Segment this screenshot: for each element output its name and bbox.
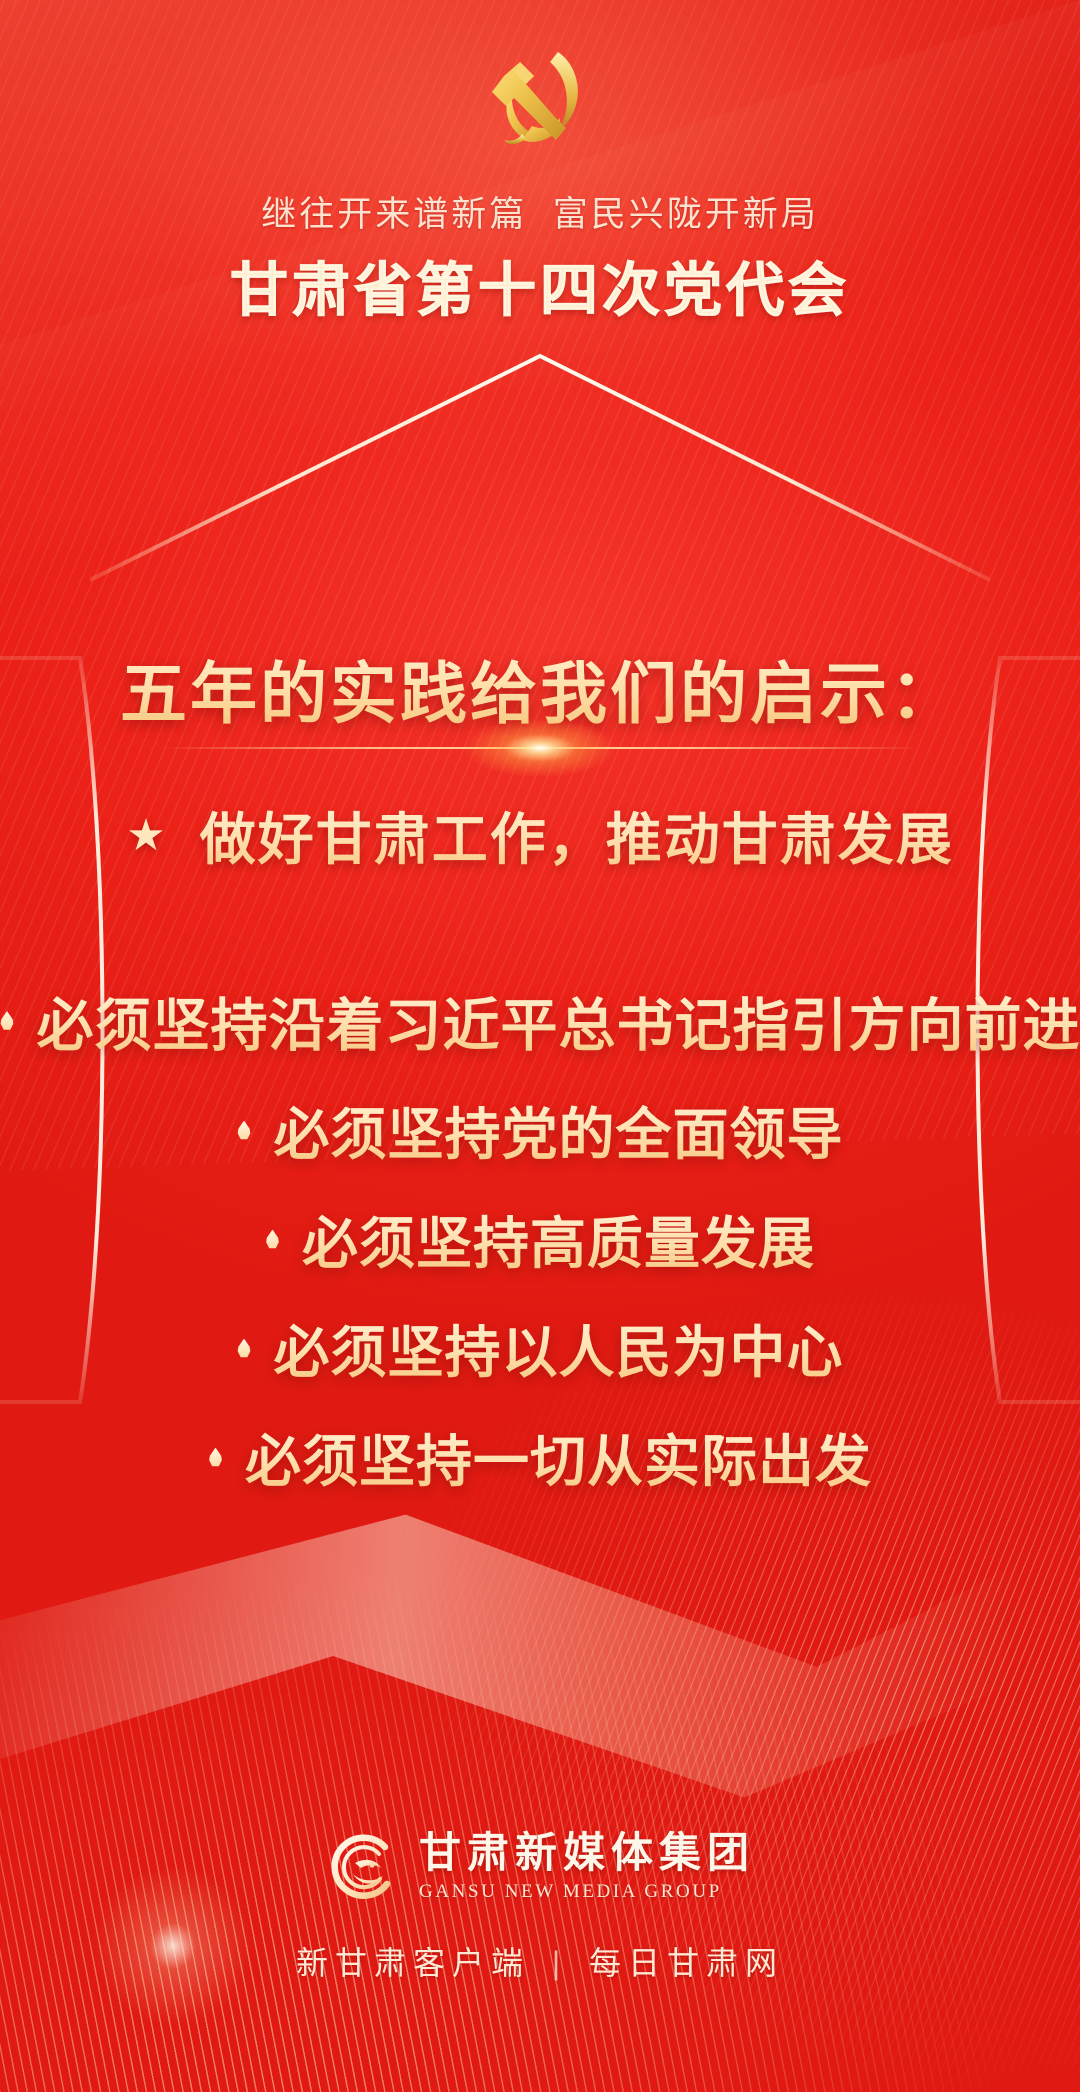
footer-link-app[interactable]: 新甘肃客户端	[296, 1945, 530, 1981]
footer-link-separator: |	[552, 1945, 567, 1981]
glow-divider	[160, 735, 920, 761]
list-item-label: 必须坚持高质量发展	[302, 1199, 815, 1280]
list-item-label: 必须坚持以人民为中心	[274, 1308, 844, 1389]
list-item: 必须坚持一切从实际出发	[208, 1417, 872, 1498]
list-item-label: 必须坚持沿着习近平总书记指引方向前进	[37, 980, 1080, 1062]
divider-glow-core	[465, 719, 615, 777]
droplet-bullet-icon	[237, 1121, 252, 1141]
list-item: 必须坚持以人民为中心	[237, 1308, 844, 1389]
list-item: 必须坚持高质量发展	[265, 1199, 815, 1280]
gansu-new-media-group-swirl-logo-icon	[325, 1830, 399, 1904]
droplet-bullet-icon	[237, 1339, 252, 1359]
five-pointed-star-icon: ★	[126, 814, 165, 858]
droplet-bullet-icon	[208, 1448, 223, 1468]
droplet-bullet-icon	[0, 1011, 15, 1031]
star-statement-row: ★ 做好甘肃工作，推动甘肃发展	[0, 795, 1080, 876]
list-item-label: 必须坚持一切从实际出发	[245, 1417, 872, 1498]
list-item-label: 必须坚持党的全面领导	[274, 1090, 844, 1171]
droplet-bullet-icon	[265, 1230, 280, 1250]
brand-row: 甘肃新媒体集团 GANSU NEW MEDIA GROUP	[0, 1830, 1080, 1904]
poster-footer: 甘肃新媒体集团 GANSU NEW MEDIA GROUP 新甘肃客户端 | 每…	[0, 1830, 1080, 1984]
list-item: 必须坚持党的全面领导	[237, 1090, 844, 1171]
footer-link-site[interactable]: 每日甘肃网	[589, 1945, 784, 1981]
poster-header: 继往开来谱新篇 富民兴陇开新局 甘肃省第十四次党代会	[0, 0, 1080, 327]
brand-name-en: GANSU NEW MEDIA GROUP	[419, 1881, 755, 1903]
sub-slogan: 继往开来谱新篇 富民兴陇开新局	[0, 186, 1080, 237]
bullet-list: 必须坚持沿着习近平总书记指引方向前进 必须坚持党的全面领导 必须坚持高质量发展 …	[0, 980, 1080, 1526]
hammer-and-sickle-party-emblem-icon	[474, 46, 606, 164]
page-title: 甘肃省第十四次党代会	[0, 243, 1080, 327]
star-statement-text: 做好甘肃工作，推动甘肃发展	[200, 795, 954, 876]
brand-names: 甘肃新媒体集团 GANSU NEW MEDIA GROUP	[419, 1831, 755, 1902]
list-item: 必须坚持沿着习近平总书记指引方向前进	[0, 980, 1080, 1062]
footer-links: 新甘肃客户端 | 每日甘肃网	[0, 1938, 1080, 1984]
poster-canvas: 继往开来谱新篇 富民兴陇开新局 甘肃省第十四次党代会 五年的实践给我们的启示： …	[0, 0, 1080, 2092]
brand-name-cn: 甘肃新媒体集团	[419, 1831, 755, 1875]
